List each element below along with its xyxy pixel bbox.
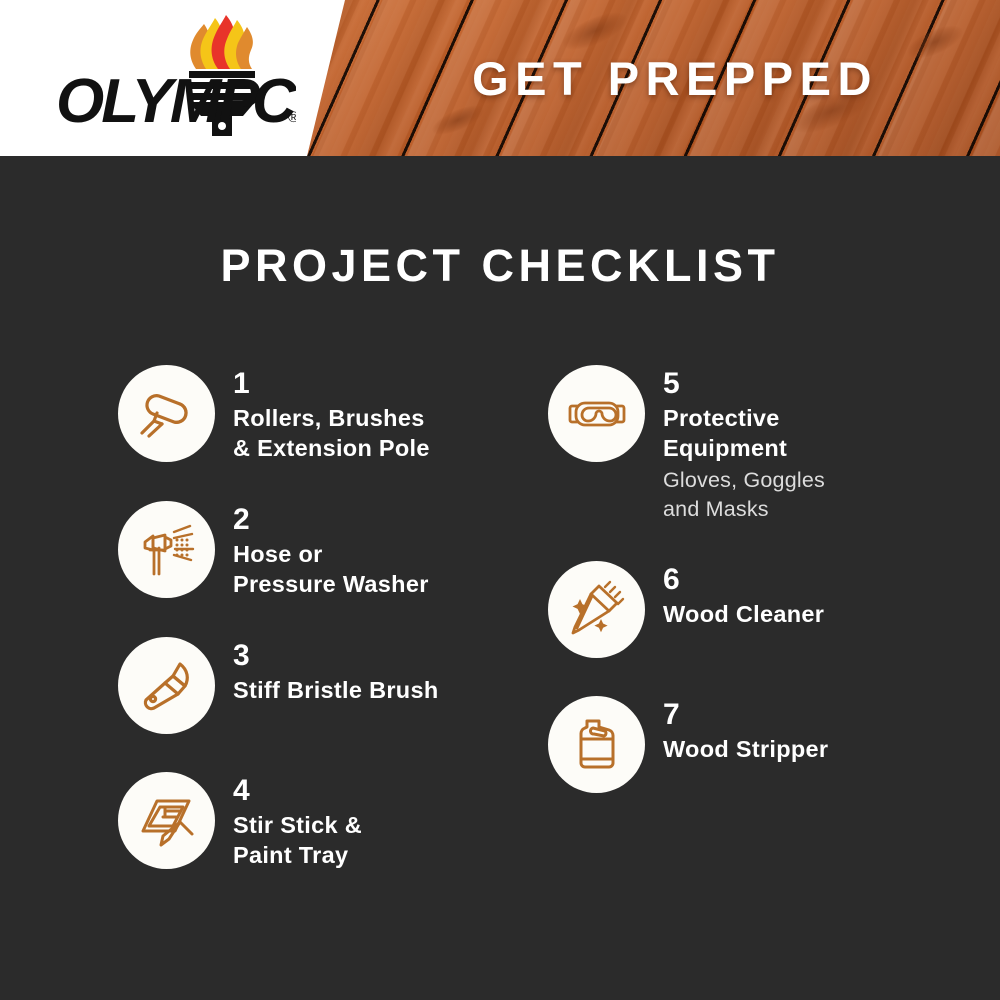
checklist-item-2[interactable]: 2 Hose or Pressure Washer — [118, 501, 538, 599]
banner-title: GET PREPPED — [360, 0, 990, 156]
checklist-item-5-label: Protective Equipment — [663, 404, 825, 463]
checklist-item-6-label: Wood Cleaner — [663, 600, 824, 630]
checklist-item-4-label: Stir Stick & Paint Tray — [233, 811, 362, 870]
checklist-right-column: 5 Protective Equipment Gloves, Goggles a… — [548, 365, 968, 793]
checklist-item-4-text: 4 Stir Stick & Paint Tray — [215, 772, 362, 870]
registered-mark: ® — [288, 109, 296, 126]
checklist-item-1-number: 1 — [233, 369, 430, 399]
checklist-item-2-number: 2 — [233, 505, 429, 535]
checklist-item-3[interactable]: 3 Stiff Bristle Brush — [118, 637, 538, 734]
safety-goggles-icon — [548, 365, 645, 462]
checklist-item-3-number: 3 — [233, 641, 438, 671]
scrub-brush-sparkle-icon — [548, 561, 645, 658]
checklist-item-6-text: 6 Wood Cleaner — [645, 561, 824, 630]
checklist-item-7[interactable]: 7 Wood Stripper — [548, 696, 968, 793]
checklist-item-1-text: 1 Rollers, Brushes & Extension Pole — [215, 365, 430, 463]
infographic-page: OLYMP C ® GET PREPPED PROJECT CHECKLIST — [0, 0, 1000, 1000]
paint-tray-icon — [118, 772, 215, 869]
checklist-item-3-label: Stiff Bristle Brush — [233, 676, 438, 706]
checklist-item-7-label: Wood Stripper — [663, 735, 828, 765]
checklist-item-7-text: 7 Wood Stripper — [645, 696, 828, 765]
pressure-washer-icon — [118, 501, 215, 598]
checklist-left-column: 1 Rollers, Brushes & Extension Pole — [118, 365, 538, 871]
checklist-item-6[interactable]: 6 Wood Cleaner — [548, 561, 968, 658]
brand-wordmark-left: OLYMP — [56, 67, 260, 136]
paint-brush-icon — [118, 637, 215, 734]
checklist-item-7-number: 7 — [663, 700, 828, 730]
olympic-logo: OLYMP C ® — [56, 14, 296, 136]
flame-icon — [190, 15, 253, 69]
checklist-item-5-sublabel: Gloves, Goggles and Masks — [663, 466, 825, 523]
checklist-item-4-number: 4 — [233, 776, 362, 806]
page-title: PROJECT CHECKLIST — [0, 240, 1000, 292]
checklist-item-4[interactable]: 4 Stir Stick & Paint Tray — [118, 772, 538, 870]
checklist-item-5-text: 5 Protective Equipment Gloves, Goggles a… — [645, 365, 825, 523]
checklist-item-2-text: 2 Hose or Pressure Washer — [215, 501, 429, 599]
checklist-item-2-label: Hose or Pressure Washer — [233, 540, 429, 599]
checklist-item-1-label: Rollers, Brushes & Extension Pole — [233, 404, 430, 463]
checklist-item-5[interactable]: 5 Protective Equipment Gloves, Goggles a… — [548, 365, 968, 523]
checklist-item-3-text: 3 Stiff Bristle Brush — [215, 637, 438, 706]
jerrycan-icon — [548, 696, 645, 793]
header-banner: OLYMP C ® GET PREPPED — [0, 0, 1000, 156]
checklist-item-5-number: 5 — [663, 369, 825, 399]
checklist-item-6-number: 6 — [663, 565, 824, 595]
paint-roller-icon — [118, 365, 215, 462]
checklist-item-1[interactable]: 1 Rollers, Brushes & Extension Pole — [118, 365, 538, 463]
